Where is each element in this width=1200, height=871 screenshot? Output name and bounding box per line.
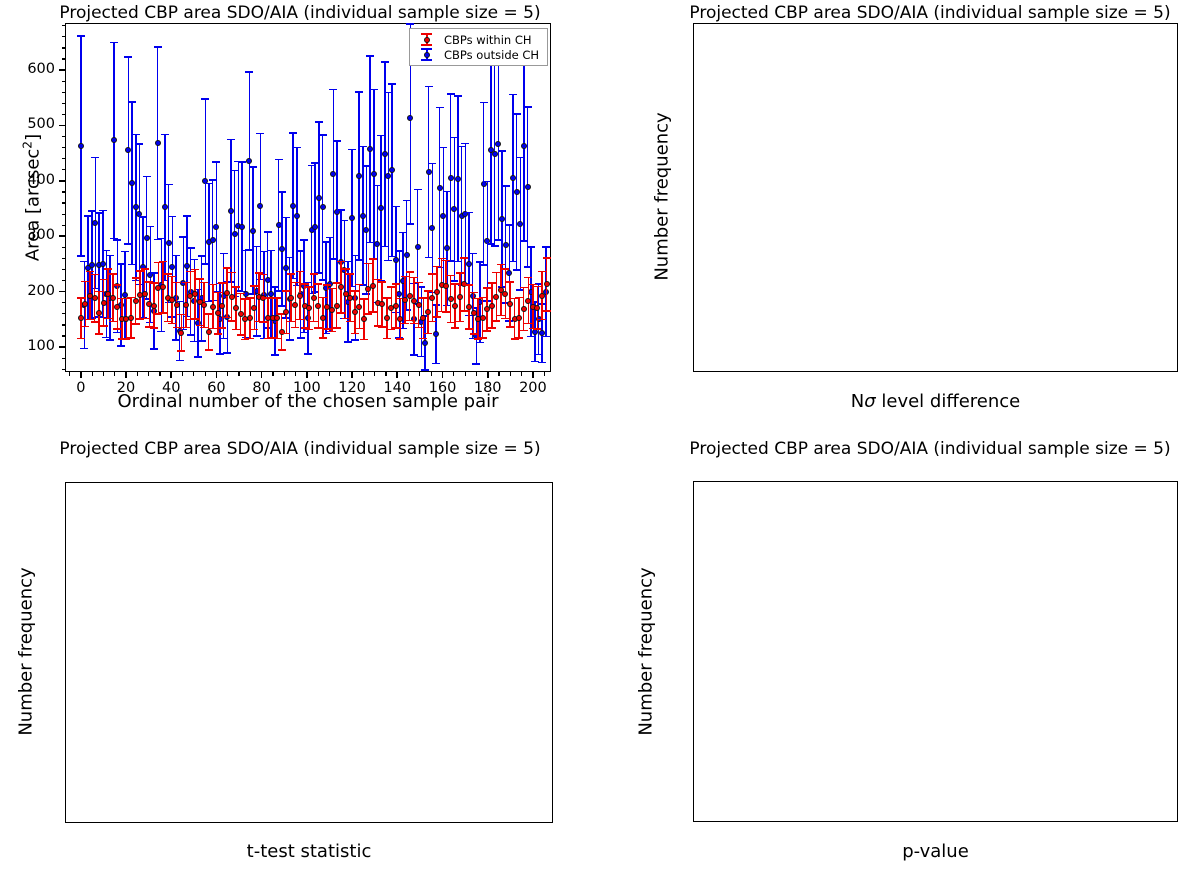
errorbar-cap-top bbox=[425, 86, 433, 88]
y-tick-label: 300 bbox=[0, 227, 55, 243]
errorbar-cap-top bbox=[282, 290, 290, 292]
x-tick-minor bbox=[453, 372, 454, 376]
legend-label-within-ch: CBPs within CH bbox=[440, 33, 532, 47]
errorbar-cap-bottom bbox=[182, 327, 190, 329]
x-tick-minor bbox=[171, 372, 172, 376]
data-point bbox=[525, 184, 531, 190]
errorbar-cap-top bbox=[273, 297, 281, 299]
data-point bbox=[78, 143, 84, 149]
panel4-xlabel: p-value bbox=[693, 841, 1178, 862]
errorbar-cap-top bbox=[282, 217, 290, 219]
errorbar-cap-top bbox=[293, 147, 301, 149]
errorbar-cap-top bbox=[479, 297, 487, 299]
errorbar-cap-top bbox=[245, 71, 253, 73]
errorbar-cap-top bbox=[436, 107, 444, 109]
errorbar-cap-bottom bbox=[415, 327, 423, 329]
errorbar-cap-bottom bbox=[237, 334, 245, 336]
y-tick-minor bbox=[62, 158, 66, 159]
errorbar-cap-top bbox=[502, 185, 510, 187]
errorbar-cap-bottom bbox=[424, 333, 432, 335]
y-tick-minor bbox=[62, 280, 66, 281]
errorbar-cap-top bbox=[81, 281, 89, 283]
y-tick-label: 100 bbox=[0, 338, 55, 354]
errorbar-cap-top bbox=[187, 247, 195, 249]
errorbar-cap-bottom bbox=[304, 353, 312, 355]
x-tick-minor bbox=[431, 372, 432, 376]
errorbar-cap-top bbox=[410, 277, 418, 279]
errorbar-cap-top bbox=[524, 277, 532, 279]
errorbar-red-icon bbox=[414, 32, 440, 47]
errorbar-cap-top bbox=[378, 281, 386, 283]
panel3-axes bbox=[65, 482, 553, 823]
errorbar-cap-top bbox=[275, 159, 283, 161]
errorbar-cap-top bbox=[501, 268, 509, 270]
errorbar-cap-top bbox=[483, 287, 491, 289]
errorbar-cap-bottom bbox=[287, 321, 295, 323]
errorbar-cap-bottom bbox=[392, 327, 400, 329]
errorbar-cap-top bbox=[128, 101, 136, 103]
x-tick-minor bbox=[340, 372, 341, 376]
x-tick-minor bbox=[250, 372, 251, 376]
errorbar-cap-top bbox=[509, 94, 517, 96]
errorbar-cap-bottom bbox=[91, 321, 99, 323]
errorbar-cap-top bbox=[113, 239, 121, 241]
errorbar-cap-top bbox=[143, 176, 151, 178]
y-tick-minor bbox=[62, 25, 66, 26]
panel-pvalue-histogram: Projected CBP area SDO/AIA (individual s… bbox=[600, 436, 1200, 871]
errorbar-cap-bottom bbox=[80, 348, 88, 350]
errorbar-cap-top bbox=[132, 277, 140, 279]
x-tick-minor bbox=[227, 372, 228, 376]
data-point bbox=[434, 289, 440, 295]
y-tick-minor bbox=[62, 180, 66, 181]
errorbar-cap-bottom bbox=[77, 338, 85, 340]
data-point bbox=[334, 303, 340, 309]
errorbar-cap-bottom bbox=[253, 335, 261, 337]
errorbar-cap-top bbox=[228, 272, 236, 274]
data-point bbox=[516, 315, 522, 321]
data-point bbox=[174, 302, 180, 308]
xlabel-suffix: level difference bbox=[876, 391, 1021, 412]
panel3-ylabel: Number frequency bbox=[16, 542, 37, 762]
errorbar-cap-top bbox=[424, 290, 432, 292]
errorbar-cap-top bbox=[470, 292, 478, 294]
errorbar-cap-top bbox=[406, 23, 414, 25]
errorbar-cap-top bbox=[383, 297, 391, 299]
y-tick-minor bbox=[62, 313, 66, 314]
errorbar-cap-bottom bbox=[384, 260, 392, 262]
errorbar-cap-top bbox=[480, 102, 488, 104]
errorbar-cap-bottom bbox=[278, 349, 286, 351]
errorbar-cap-top bbox=[77, 297, 85, 299]
errorbar-cap-bottom bbox=[77, 255, 85, 257]
errorbar-cap-bottom bbox=[362, 293, 370, 295]
errorbar-cap-top bbox=[238, 161, 246, 163]
errorbar-cap-bottom bbox=[479, 337, 487, 339]
x-tick-minor bbox=[544, 372, 545, 376]
errorbar-cap-top bbox=[355, 91, 363, 93]
errorbar-cap-bottom bbox=[282, 333, 290, 335]
errorbar-cap-top bbox=[104, 268, 112, 270]
errorbar-cap-bottom bbox=[223, 317, 231, 319]
errorbar-cap-top bbox=[419, 297, 427, 299]
errorbar-cap-bottom bbox=[223, 352, 231, 354]
errorbar-cap-bottom bbox=[246, 338, 254, 340]
errorbar-cap-top bbox=[223, 267, 231, 269]
errorbar-cap-bottom bbox=[176, 360, 184, 362]
errorbar-cap-top bbox=[186, 271, 194, 273]
errorbar-cap-top bbox=[329, 89, 337, 91]
x-tick-label: 200 bbox=[503, 380, 563, 396]
errorbar-cap-top bbox=[99, 210, 107, 212]
errorbar-cap-top bbox=[355, 284, 363, 286]
errorbar-cap-top bbox=[333, 140, 341, 142]
y-tick-minor bbox=[62, 291, 66, 292]
errorbar-cap-top bbox=[124, 56, 132, 58]
errorbar-cap-top bbox=[465, 212, 473, 214]
errorbar-cap-bottom bbox=[406, 320, 414, 322]
y-tick-minor bbox=[62, 47, 66, 48]
data-point bbox=[183, 302, 189, 308]
x-tick-minor bbox=[216, 372, 217, 376]
errorbar-cap-top bbox=[159, 261, 167, 263]
y-tick-minor bbox=[62, 103, 66, 104]
errorbar-cap-top bbox=[310, 273, 318, 275]
errorbar-cap-top bbox=[465, 284, 473, 286]
errorbar-cap-top bbox=[191, 269, 199, 271]
errorbar-cap-top bbox=[168, 276, 176, 278]
errorbar-cap-top bbox=[469, 253, 477, 255]
errorbar-cap-top bbox=[287, 273, 295, 275]
figure-canvas: Projected CBP area SDO/AIA (individual s… bbox=[0, 0, 1200, 871]
errorbar-cap-top bbox=[95, 291, 103, 293]
data-point bbox=[101, 300, 107, 306]
y-tick-minor bbox=[62, 236, 66, 237]
errorbar-cap-bottom bbox=[401, 323, 409, 325]
data-point bbox=[349, 215, 355, 221]
x-tick-minor bbox=[318, 372, 319, 376]
errorbar-cap-top bbox=[106, 255, 114, 257]
x-tick-minor bbox=[69, 372, 70, 376]
errorbar-cap-top bbox=[388, 83, 396, 85]
errorbar-cap-top bbox=[250, 285, 258, 287]
errorbar-cap-bottom bbox=[351, 333, 359, 335]
panel-nsigma-histogram: Projected CBP area SDO/AIA (individual s… bbox=[600, 0, 1200, 436]
y-tick-minor bbox=[62, 81, 66, 82]
ylabel-exponent: 2 bbox=[21, 141, 35, 149]
x-tick-minor bbox=[498, 372, 499, 376]
errorbar-cap-top bbox=[323, 284, 331, 286]
x-tick-minor bbox=[159, 372, 160, 376]
errorbar-cap-top bbox=[454, 95, 462, 97]
x-tick-minor bbox=[442, 372, 443, 376]
errorbar-cap-top bbox=[442, 260, 450, 262]
errorbar-cap-top bbox=[256, 133, 264, 135]
errorbar-cap-top bbox=[237, 293, 245, 295]
errorbar-cap-top bbox=[319, 297, 327, 299]
errorbar-cap-top bbox=[328, 288, 336, 290]
data-point bbox=[493, 294, 499, 300]
data-point bbox=[210, 304, 216, 310]
data-point bbox=[457, 294, 463, 300]
errorbar-cap-top bbox=[369, 258, 377, 260]
errorbar-cap-top bbox=[381, 61, 389, 63]
x-tick-minor bbox=[103, 372, 104, 376]
y-tick-minor bbox=[62, 214, 66, 215]
errorbar-cap-top bbox=[538, 271, 546, 273]
errorbar-cap-bottom bbox=[314, 327, 322, 329]
errorbar-cap-top bbox=[342, 268, 350, 270]
errorbar-cap-top bbox=[201, 98, 209, 100]
errorbar-cap-top bbox=[196, 278, 204, 280]
errorbar-cap-bottom bbox=[200, 327, 208, 329]
errorbar-cap-bottom bbox=[150, 327, 158, 329]
data-point bbox=[128, 315, 134, 321]
data-point bbox=[404, 252, 410, 258]
errorbar-cap-bottom bbox=[250, 329, 258, 331]
x-tick-minor bbox=[125, 372, 126, 376]
errorbar-cap-top bbox=[278, 191, 286, 193]
x-tick-minor bbox=[148, 372, 149, 376]
errorbar-cap-top bbox=[415, 282, 423, 284]
errorbar-cap-bottom bbox=[109, 321, 117, 323]
errorbar-cap-bottom bbox=[141, 318, 149, 320]
errorbar-cap-top bbox=[360, 298, 368, 300]
data-point bbox=[229, 294, 235, 300]
data-point bbox=[178, 330, 184, 336]
errorbar-cap-bottom bbox=[113, 328, 121, 330]
errorbar-cap-top bbox=[109, 273, 117, 275]
errorbar-cap-bottom bbox=[451, 327, 459, 329]
x-tick-minor bbox=[419, 372, 420, 376]
errorbar-cap-top bbox=[319, 134, 327, 136]
errorbar-cap-bottom bbox=[173, 327, 181, 329]
errorbar-cap-bottom bbox=[543, 310, 551, 312]
errorbar-cap-top bbox=[102, 250, 110, 252]
errorbar-cap-bottom bbox=[259, 321, 267, 323]
y-tick-minor bbox=[62, 125, 66, 126]
x-tick-minor bbox=[92, 372, 93, 376]
x-tick-minor bbox=[205, 372, 206, 376]
errorbar-cap-bottom bbox=[351, 339, 359, 341]
ylabel-base: Area [arcsec bbox=[23, 149, 44, 261]
errorbar-cap-top bbox=[340, 220, 348, 222]
errorbar-cap-top bbox=[305, 286, 313, 288]
errorbar-cap-bottom bbox=[378, 326, 386, 328]
x-tick-minor bbox=[329, 372, 330, 376]
errorbar-cap-bottom bbox=[369, 311, 377, 313]
errorbar-cap-bottom bbox=[470, 333, 478, 335]
errorbar-cap-bottom bbox=[205, 349, 213, 351]
errorbar-cap-bottom bbox=[191, 318, 199, 320]
data-point bbox=[142, 291, 148, 297]
errorbar-cap-top bbox=[401, 276, 409, 278]
errorbar-cap-bottom bbox=[209, 328, 217, 330]
errorbar-cap-top bbox=[506, 281, 514, 283]
panel-ttest-histogram: Projected CBP area SDO/AIA (individual s… bbox=[0, 436, 600, 871]
y-tick-minor bbox=[62, 191, 66, 192]
x-tick-minor bbox=[408, 372, 409, 376]
errorbar-cap-bottom bbox=[310, 321, 318, 323]
x-tick-minor bbox=[272, 372, 273, 376]
errorbar-cap-top bbox=[359, 146, 367, 148]
y-tick-minor bbox=[62, 147, 66, 148]
panel-scatter-errorbar: Projected CBP area SDO/AIA (individual s… bbox=[0, 0, 600, 436]
errorbar-cap-bottom bbox=[194, 356, 202, 358]
x-tick-minor bbox=[397, 372, 398, 376]
errorbar-cap-top bbox=[212, 161, 220, 163]
errorbar-cap-bottom bbox=[291, 327, 299, 329]
errorbar-cap-bottom bbox=[450, 280, 458, 282]
errorbar-cap-bottom bbox=[218, 327, 226, 329]
errorbar-cap-bottom bbox=[346, 321, 354, 323]
errorbar-cap-top bbox=[337, 209, 345, 211]
x-tick-minor bbox=[476, 372, 477, 376]
data-point bbox=[206, 329, 212, 335]
errorbar-cap-bottom bbox=[297, 337, 305, 339]
y-tick-minor bbox=[62, 202, 66, 203]
panel1-legend[interactable]: CBPs within CH CBPs outside CH bbox=[409, 28, 548, 66]
errorbar-cap-bottom bbox=[228, 320, 236, 322]
errorbar-cap-top bbox=[497, 264, 505, 266]
errorbar-cap-top bbox=[428, 273, 436, 275]
errorbar-blue-icon bbox=[414, 47, 440, 62]
data-point bbox=[239, 224, 245, 230]
errorbar-cap-top bbox=[527, 246, 535, 248]
errorbar-cap-bottom bbox=[419, 338, 427, 340]
errorbar-cap-top bbox=[121, 251, 129, 253]
errorbar-cap-bottom bbox=[95, 333, 103, 335]
errorbar-cap-bottom bbox=[506, 326, 514, 328]
data-point bbox=[416, 302, 422, 308]
errorbar-cap-bottom bbox=[497, 315, 505, 317]
data-point bbox=[311, 295, 317, 301]
errorbar-cap-top bbox=[86, 271, 94, 273]
x-tick-minor bbox=[532, 372, 533, 376]
errorbar-cap-top bbox=[460, 257, 468, 259]
errorbar-cap-top bbox=[387, 286, 395, 288]
errorbar-cap-top bbox=[370, 89, 378, 91]
errorbar-cap-bottom bbox=[542, 336, 550, 338]
errorbar-cap-bottom bbox=[432, 363, 440, 365]
errorbar-cap-top bbox=[227, 139, 235, 141]
errorbar-cap-bottom bbox=[344, 341, 352, 343]
y-tick-minor bbox=[62, 36, 66, 37]
errorbar-cap-top bbox=[136, 270, 144, 272]
errorbar-cap-top bbox=[91, 274, 99, 276]
errorbar-cap-bottom bbox=[406, 223, 414, 225]
panel3-title: Projected CBP area SDO/AIA (individual s… bbox=[0, 439, 600, 459]
errorbar-cap-top bbox=[246, 297, 254, 299]
data-point bbox=[92, 295, 98, 301]
data-point bbox=[297, 293, 303, 299]
errorbar-cap-top bbox=[150, 282, 158, 284]
errorbar-cap-top bbox=[200, 282, 208, 284]
errorbar-cap-bottom bbox=[273, 338, 281, 340]
data-point bbox=[371, 171, 377, 177]
errorbar-cap-top bbox=[113, 284, 121, 286]
errorbar-cap-bottom bbox=[214, 333, 222, 335]
errorbar-cap-top bbox=[542, 246, 550, 248]
y-tick-minor bbox=[62, 335, 66, 336]
errorbar-cap-top bbox=[296, 271, 304, 273]
errorbar-cap-top bbox=[314, 283, 322, 285]
errorbar-cap-bottom bbox=[157, 331, 165, 333]
errorbar-cap-bottom bbox=[533, 328, 541, 330]
errorbar-cap-top bbox=[428, 163, 436, 165]
y-tick-minor bbox=[62, 136, 66, 137]
panel3-xlabel: t-test statistic bbox=[65, 841, 553, 862]
errorbar-cap-bottom bbox=[319, 337, 327, 339]
legend-item-within-ch[interactable]: CBPs within CH bbox=[414, 32, 541, 47]
x-tick-minor bbox=[114, 372, 115, 376]
y-tick-minor bbox=[62, 225, 66, 226]
errorbar-cap-top bbox=[91, 157, 99, 159]
x-tick-minor bbox=[306, 372, 307, 376]
errorbar-cap-bottom bbox=[520, 330, 528, 332]
errorbar-cap-top bbox=[456, 272, 464, 274]
data-point bbox=[151, 303, 157, 309]
data-point bbox=[347, 295, 353, 301]
errorbar-cap-bottom bbox=[150, 348, 158, 350]
errorbar-cap-top bbox=[182, 282, 190, 284]
data-point bbox=[393, 303, 399, 309]
x-tick-minor bbox=[385, 372, 386, 376]
x-tick-minor bbox=[521, 372, 522, 376]
errorbar-cap-top bbox=[447, 275, 455, 277]
x-tick-minor bbox=[487, 372, 488, 376]
data-point bbox=[415, 244, 421, 250]
errorbar-cap-top bbox=[173, 282, 181, 284]
errorbar-cap-top bbox=[392, 206, 400, 208]
errorbar-cap-top bbox=[315, 121, 323, 123]
errorbar-cap-top bbox=[177, 314, 185, 316]
data-point bbox=[320, 315, 326, 321]
data-point bbox=[489, 303, 495, 309]
data-point bbox=[370, 283, 376, 289]
errorbar-cap-top bbox=[348, 149, 356, 151]
errorbar-cap-top bbox=[172, 255, 180, 257]
errorbar-cap-top bbox=[77, 35, 85, 37]
errorbar-cap-bottom bbox=[271, 354, 279, 356]
errorbar-cap-bottom bbox=[286, 339, 294, 341]
errorbar-cap-top bbox=[110, 42, 118, 44]
errorbar-cap-bottom bbox=[198, 340, 206, 342]
errorbar-cap-bottom bbox=[396, 338, 404, 340]
panel4-axes bbox=[693, 481, 1178, 822]
errorbar-cap-bottom bbox=[501, 318, 509, 320]
x-tick-minor bbox=[351, 372, 352, 376]
legend-label-outside-ch: CBPs outside CH bbox=[440, 48, 539, 62]
errorbar-cap-bottom bbox=[355, 328, 363, 330]
x-tick-minor bbox=[465, 372, 466, 376]
errorbar-cap-bottom bbox=[333, 327, 341, 329]
errorbar-cap-top bbox=[498, 150, 506, 152]
errorbar-cap-bottom bbox=[132, 323, 140, 325]
data-point bbox=[480, 315, 486, 321]
legend-item-outside-ch[interactable]: CBPs outside CH bbox=[414, 47, 541, 62]
errorbar-cap-top bbox=[205, 313, 213, 315]
errorbar-cap-bottom bbox=[342, 318, 350, 320]
errorbar-cap-top bbox=[524, 106, 532, 108]
y-tick-label: 200 bbox=[0, 283, 55, 299]
panel4-title: Projected CBP area SDO/AIA (individual s… bbox=[660, 439, 1200, 459]
panel2-axes bbox=[693, 23, 1178, 372]
data-point bbox=[288, 295, 294, 301]
errorbar-cap-bottom bbox=[410, 323, 418, 325]
y-tick-minor bbox=[62, 369, 66, 370]
errorbar-cap-bottom bbox=[538, 362, 546, 364]
